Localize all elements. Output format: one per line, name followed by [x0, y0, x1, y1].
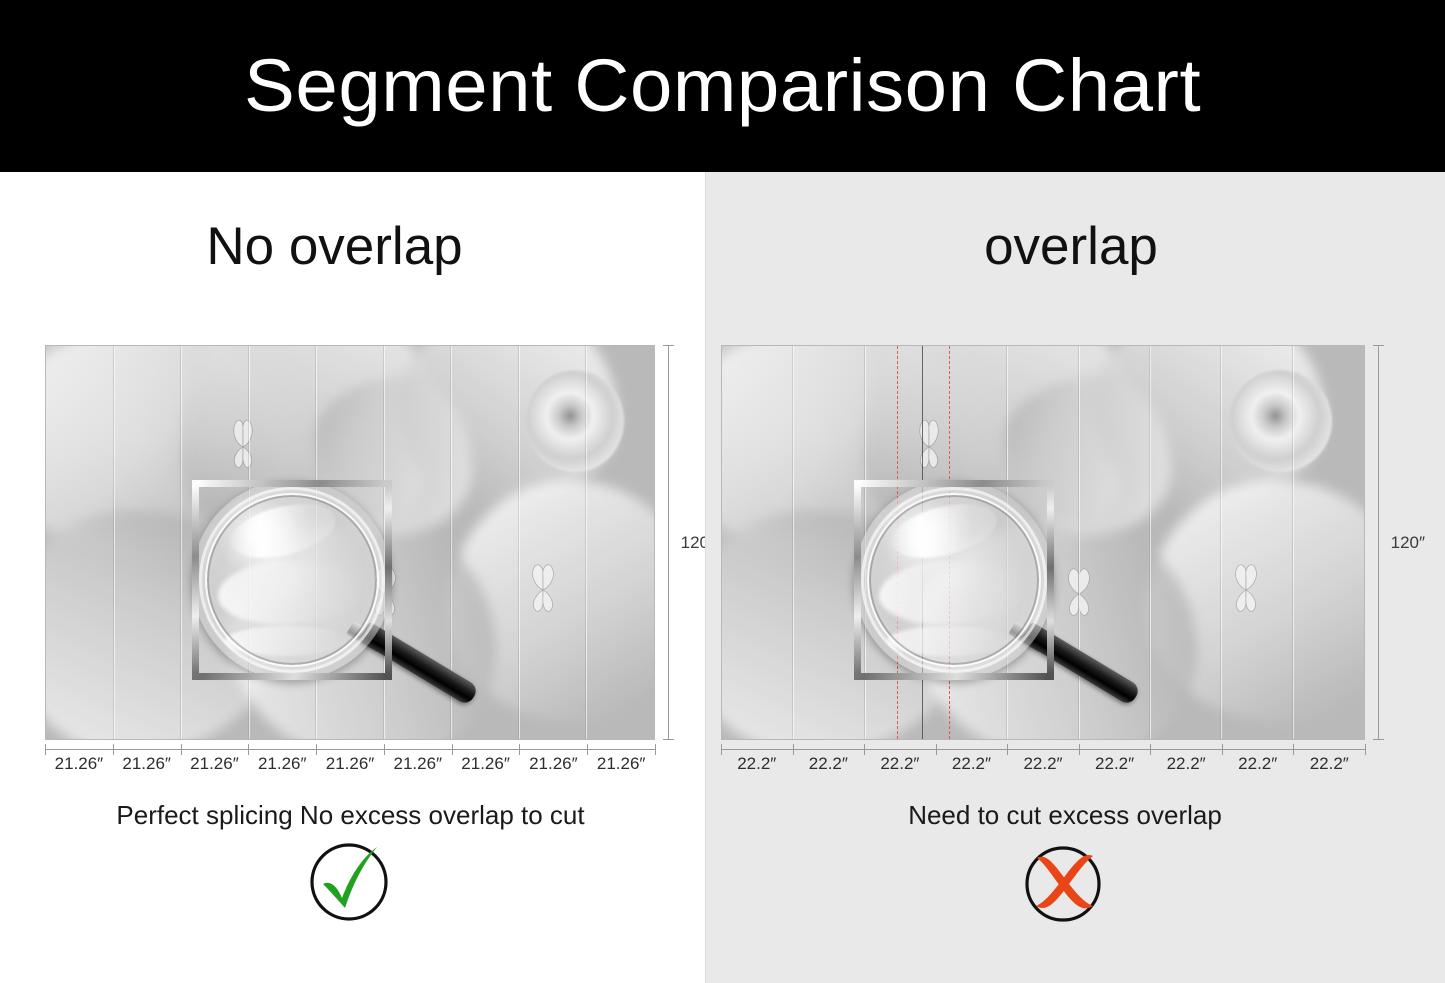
segment-labels-overlap: 22.2″ 22.2″ 22.2″ 22.2″ 22.2″ 22.2″ 22.2…: [721, 754, 1365, 774]
segment-label: 21.26″: [519, 754, 587, 774]
segment-label: 21.26″: [316, 754, 384, 774]
segment-label: 22.2″: [1007, 754, 1079, 774]
check-mark-icon: [307, 840, 391, 924]
segment-label: 21.26″: [248, 754, 316, 774]
width-ruler-overlap: [721, 749, 1365, 750]
caption-no-overlap: Perfect splicing No excess overlap to cu…: [0, 802, 703, 828]
panel-heading-overlap: overlap: [701, 220, 1441, 273]
panel-heading-no-overlap: No overlap: [0, 220, 687, 273]
segment-label: 21.26″: [452, 754, 520, 774]
butterfly-icon: [225, 417, 261, 473]
status-badge-no-overlap: [0, 840, 701, 924]
butterfly-icon: [911, 417, 947, 473]
segment-label: 22.2″: [864, 754, 936, 774]
mural-image-overlap: [721, 345, 1365, 740]
panel-divider: [705, 172, 706, 983]
title-banner: Segment Comparison Chart: [0, 0, 1445, 172]
butterfly-icon: [1226, 562, 1266, 616]
status-badge-overlap: [695, 840, 1435, 924]
mural-image-no-overlap: [45, 345, 655, 740]
magnifier-lens: [854, 480, 1054, 680]
segment-label: 21.26″: [181, 754, 249, 774]
butterfly-icon: [523, 562, 563, 616]
mural-figure-no-overlap: 120″ 21.26″ 21.26″ 21.26″: [45, 345, 655, 740]
segment-label: 22.2″: [1150, 754, 1222, 774]
cross-mark-icon: [1023, 840, 1107, 924]
segment-label: 21.26″: [384, 754, 452, 774]
segment-label: 22.2″: [793, 754, 865, 774]
segment-labels-no-overlap: 21.26″ 21.26″ 21.26″ 21.26″ 21.26″ 21.26…: [45, 754, 655, 774]
segment-label: 21.26″: [45, 754, 113, 774]
rose-swirl-shape: [1229, 370, 1332, 472]
segment-label: 21.26″: [587, 754, 655, 774]
magnifier-lens: [192, 480, 392, 680]
lens-inner-ring: [867, 493, 1041, 667]
height-ruler-no-overlap: [668, 345, 669, 740]
segment-label: 22.2″: [1079, 754, 1151, 774]
lens-inner-ring: [205, 493, 379, 667]
height-label-overlap: 120″: [1391, 533, 1425, 553]
segment-label: 22.2″: [1222, 754, 1294, 774]
panel-no-overlap: No overlap: [0, 172, 705, 983]
segment-label: 21.26″: [113, 754, 181, 774]
width-ruler-no-overlap: [45, 749, 655, 750]
butterfly-icon: [1059, 566, 1099, 620]
segment-comparison-chart-page: Segment Comparison Chart No overlap: [0, 0, 1445, 983]
mural-figure-overlap: 120″ 22.2″ 22.2″ 22.2″: [721, 345, 1365, 740]
magnifying-glass-icon: [192, 480, 392, 680]
caption-overlap: Need to cut excess overlap: [695, 802, 1435, 828]
segment-label: 22.2″: [1294, 754, 1366, 774]
comparison-panels: No overlap: [0, 172, 1445, 983]
magnifying-glass-icon: [854, 480, 1054, 680]
rose-swirl-shape: [526, 370, 623, 472]
segment-label: 22.2″: [721, 754, 793, 774]
height-ruler-overlap: [1378, 345, 1379, 740]
panel-overlap: overlap: [705, 172, 1445, 983]
segment-label: 22.2″: [936, 754, 1008, 774]
page-title: Segment Comparison Chart: [244, 49, 1201, 123]
